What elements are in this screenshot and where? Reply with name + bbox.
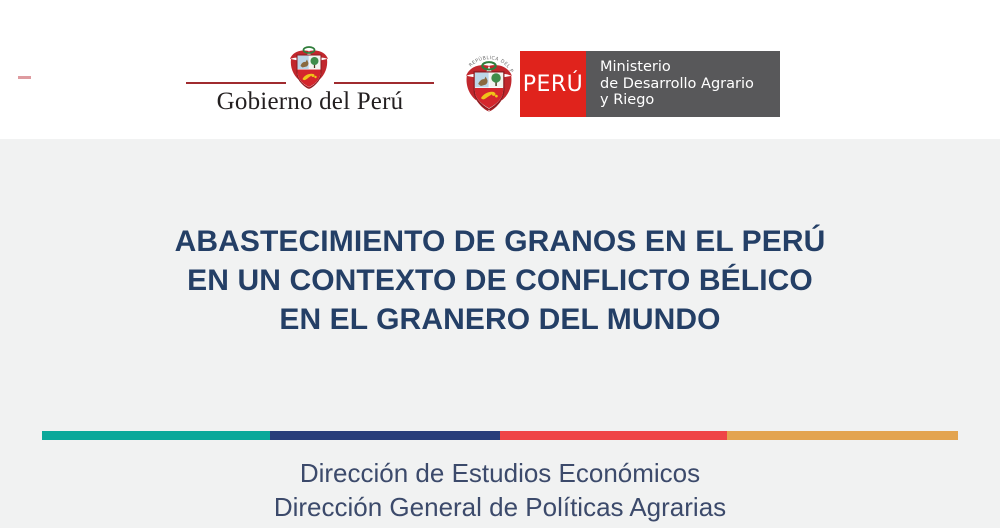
slide-footer: Dirección de Estudios Económicos Direcci…: [0, 456, 1000, 524]
accent-color-bar: [42, 431, 958, 440]
ministerio-name-line-1: Ministerio: [600, 59, 754, 76]
header-band: Gobierno del Perú REPÚBLICA DEL PERÚ: [0, 0, 1000, 139]
slide-title: ABASTECIMIENTO DE GRANOS EN EL PERÚ EN U…: [0, 222, 1000, 339]
color-bar-segment-red: [500, 431, 727, 440]
ministerio-name-line-3: y Riego: [600, 92, 754, 109]
slide-title-line-3: EN EL GRANERO DEL MUNDO: [0, 300, 1000, 339]
color-bar-segment-teal: [42, 431, 270, 440]
gobierno-rule-right: [334, 82, 434, 84]
slide-title-line-1: ABASTECIMIENTO DE GRANOS EN EL PERÚ: [0, 222, 1000, 261]
ministerio-emblem-panel: REPÚBLICA DEL PERÚ: [458, 51, 520, 117]
ministerio-name-block: Ministerio de Desarrollo Agrario y Riego: [586, 51, 780, 117]
footer-line-2: Dirección General de Políticas Agrarias: [0, 490, 1000, 524]
ministerio-peru-block: PERÚ: [520, 51, 586, 117]
color-bar-segment-navy: [270, 431, 500, 440]
ministerio-logo: REPÚBLICA DEL PERÚ: [458, 51, 780, 117]
ministerio-name-lines: Ministerio de Desarrollo Agrario y Riego: [600, 59, 754, 109]
republica-del-peru-emblem-icon: REPÚBLICA DEL PERÚ: [458, 51, 520, 117]
slide-title-line-2: EN UN CONTEXTO DE CONFLICTO BÉLICO: [0, 261, 1000, 300]
gobierno-logo-title: Gobierno del Perú: [186, 88, 434, 116]
presentation-title-slide: Gobierno del Perú REPÚBLICA DEL PERÚ: [0, 0, 1000, 528]
ministerio-peru-label: PERÚ: [523, 72, 584, 97]
gobierno-del-peru-logo: Gobierno del Perú: [186, 44, 434, 118]
gobierno-rule-left: [186, 82, 286, 84]
corner-dash-mark: [18, 76, 31, 79]
color-bar-segment-orange: [727, 431, 958, 440]
ministerio-name-line-2: de Desarrollo Agrario: [600, 76, 754, 93]
footer-line-1: Dirección de Estudios Económicos: [0, 456, 1000, 490]
